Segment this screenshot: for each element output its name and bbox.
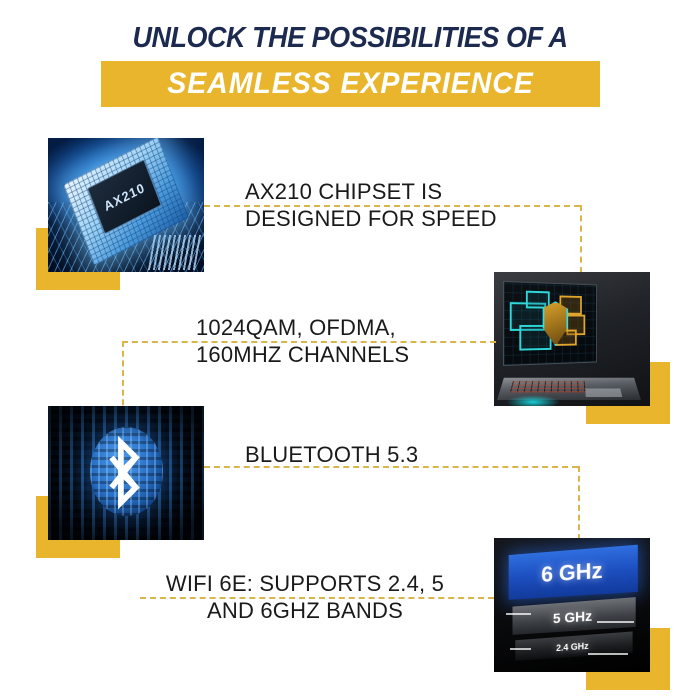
band-6ghz: 6 GHz [509, 545, 638, 600]
feature-caption-4: WIFI 6E: SUPPORTS 2.4, 5 AND 6GHZ BANDS [140, 570, 470, 624]
bluetooth-icon [107, 435, 146, 510]
feature-image-laptop-security [494, 272, 670, 424]
infographic-poster: UNLOCK THE POSSIBILITIES OF A SEAMLESS E… [0, 0, 700, 700]
connector-2-vertical [122, 341, 124, 415]
band-6ghz-label: 6 GHz [509, 555, 638, 590]
feature-caption-2: 1024QAM, OFDMA, 160MHZ CHANNELS [196, 314, 409, 368]
headline-banner-label: SEAMLESS EXPERIENCE [113, 61, 587, 107]
feature-caption-1: AX210 CHIPSET IS DESIGNED FOR SPEED [245, 178, 497, 232]
ghz-bands-photo: 6 GHz 5 GHz 2.4 GHz [494, 538, 650, 672]
page-title: UNLOCK THE POSSIBILITIES OF A [25, 22, 676, 55]
feature-caption-3: BLUETOOTH 5.3 [245, 441, 418, 468]
ax210-chipset-photo: AX210 [48, 138, 204, 272]
feature-image-ax210-chipset: AX210 [36, 138, 212, 290]
bluetooth-logo-photo [48, 406, 204, 540]
connector-1-vertical [580, 205, 582, 273]
feature-image-bluetooth [36, 406, 212, 558]
laptop-security-photo [494, 272, 650, 406]
headline-banner: SEAMLESS EXPERIENCE [101, 61, 600, 107]
band-5ghz-label: 5 GHz [512, 604, 635, 629]
chip-die-label: AX210 [102, 180, 147, 214]
connector-3-vertical [578, 466, 580, 540]
feature-image-ghz-bands: 6 GHz 5 GHz 2.4 GHz [494, 538, 670, 690]
